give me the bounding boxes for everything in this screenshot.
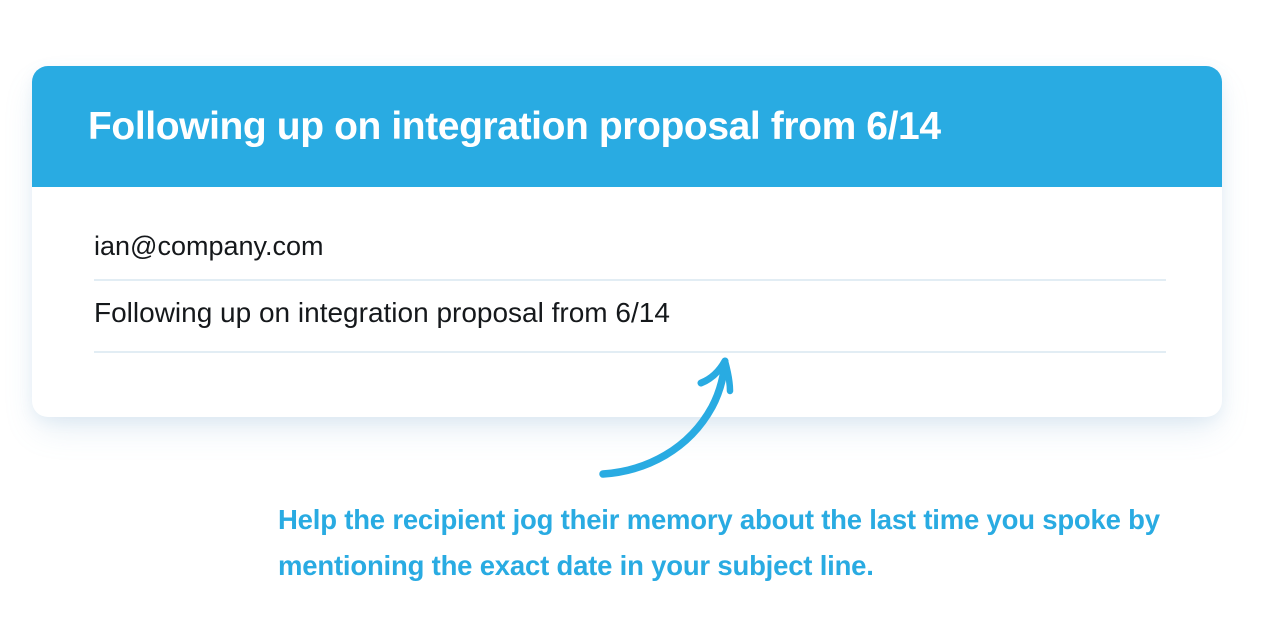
compose-header: Following up on integration proposal fro… [32, 66, 1222, 187]
subject-field[interactable]: Following up on integration proposal fro… [94, 281, 1166, 353]
page-title: Following up on integration proposal fro… [88, 105, 941, 149]
recipient-field[interactable]: ian@company.com [94, 219, 1166, 281]
compose-body: ian@company.com Following up on integrat… [32, 187, 1222, 417]
email-compose-card: Following up on integration proposal fro… [32, 66, 1222, 417]
annotation-caption: Help the recipient jog their memory abou… [278, 497, 1178, 589]
